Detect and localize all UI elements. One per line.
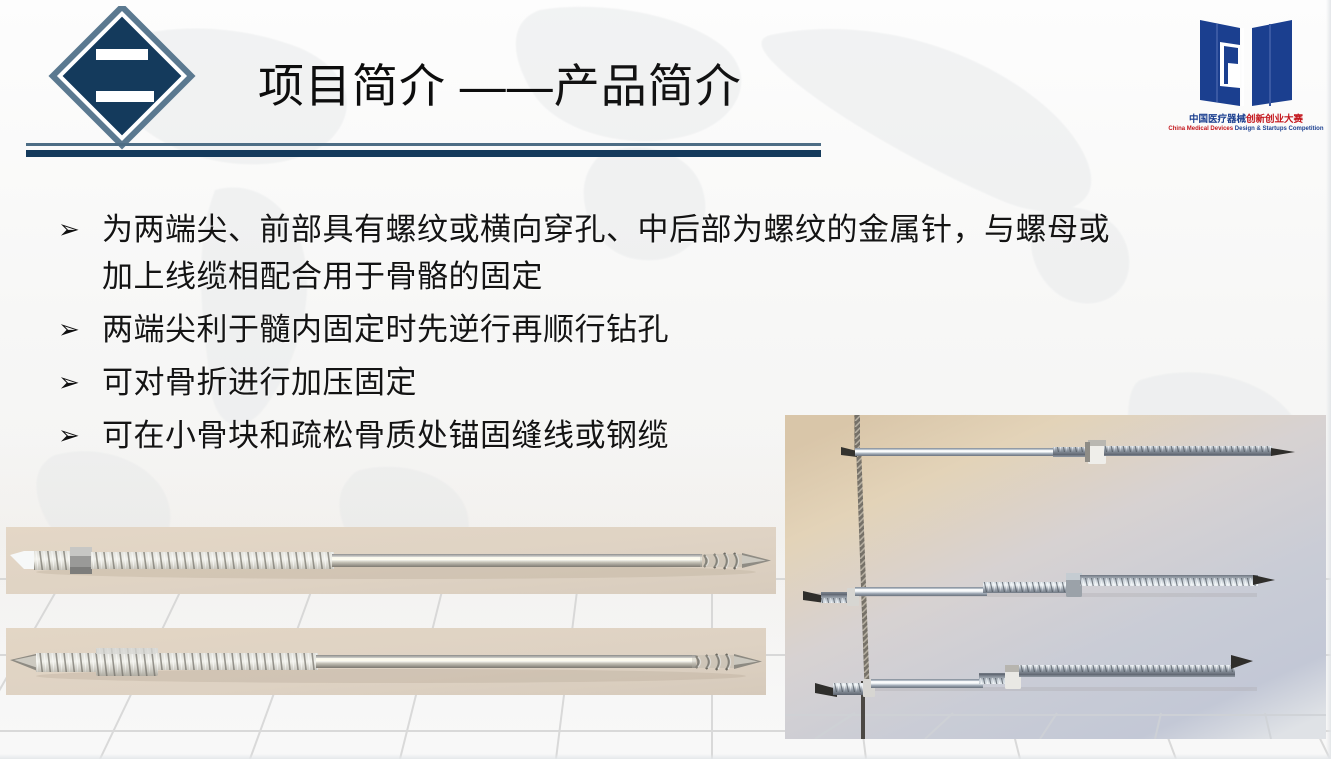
slide-edge-bottom — [0, 754, 1331, 759]
competition-cn-prefix: 中国医疗器械 — [1189, 114, 1246, 125]
bullet-arrow-icon: ➢ — [58, 412, 102, 459]
diamond-emblem-logo — [42, 6, 202, 152]
competition-cn-accent: 创新创业大赛 — [1246, 114, 1303, 125]
title-separator: —— — [460, 60, 554, 112]
title-rule-thick — [26, 150, 821, 157]
list-item-line-2: 加上线缆相配合用于骨骼的固定 — [102, 253, 1238, 300]
list-item-line-1: 为两端尖、前部具有螺纹或横向穿孔、中后部为螺纹的金属针，与螺母或 — [102, 212, 1110, 247]
competition-logo-cn: 中国医疗器械创新创业大赛 — [1189, 115, 1303, 125]
photo-threaded-pin-double-point — [6, 628, 766, 695]
list-item-text: 为两端尖、前部具有螺纹或横向穿孔、中后部为螺纹的金属针，与螺母或 加上线缆相配合… — [102, 206, 1238, 300]
slide-edge-right — [1326, 0, 1331, 759]
title-main: 项目简介 — [258, 60, 446, 112]
competition-logo: 中国医疗器械创新创业大赛 China Medical Devices Desig… — [1175, 14, 1317, 154]
list-item-text: 两端尖利于髓内固定时先逆行再顺行钻孔 — [102, 306, 1238, 353]
bullet-arrow-icon: ➢ — [58, 206, 102, 253]
competition-logo-en: China Medical Devices Design & Startups … — [1168, 126, 1323, 133]
photo-threaded-pin-with-nut — [6, 527, 776, 594]
title-rule-thin — [26, 143, 821, 146]
competition-en-red: China Medical Devices — [1168, 125, 1233, 132]
bullet-arrow-icon: ➢ — [58, 306, 102, 353]
presentation-slide: 项目简介 ——产品简介 中国医疗器械创新创业大赛 China Medical D… — [0, 0, 1331, 759]
bullet-arrow-icon: ➢ — [58, 359, 102, 406]
page-title: 项目简介 ——产品简介 — [258, 62, 742, 110]
competition-en-blue: Design & Startups Competition — [1235, 125, 1324, 132]
open-door-icon — [1194, 14, 1298, 112]
list-item: ➢ 为两端尖、前部具有螺纹或横向穿孔、中后部为螺纹的金属针，与螺母或 加上线缆相… — [58, 206, 1238, 300]
list-item: ➢ 可对骨折进行加压固定 — [58, 359, 1238, 406]
list-item: ➢ 两端尖利于髓内固定时先逆行再顺行钻孔 — [58, 306, 1238, 353]
title-sub: 产品简介 — [554, 60, 742, 112]
list-item-text: 可对骨折进行加压固定 — [102, 359, 1238, 406]
photo-pin-set-with-cable — [785, 415, 1326, 739]
